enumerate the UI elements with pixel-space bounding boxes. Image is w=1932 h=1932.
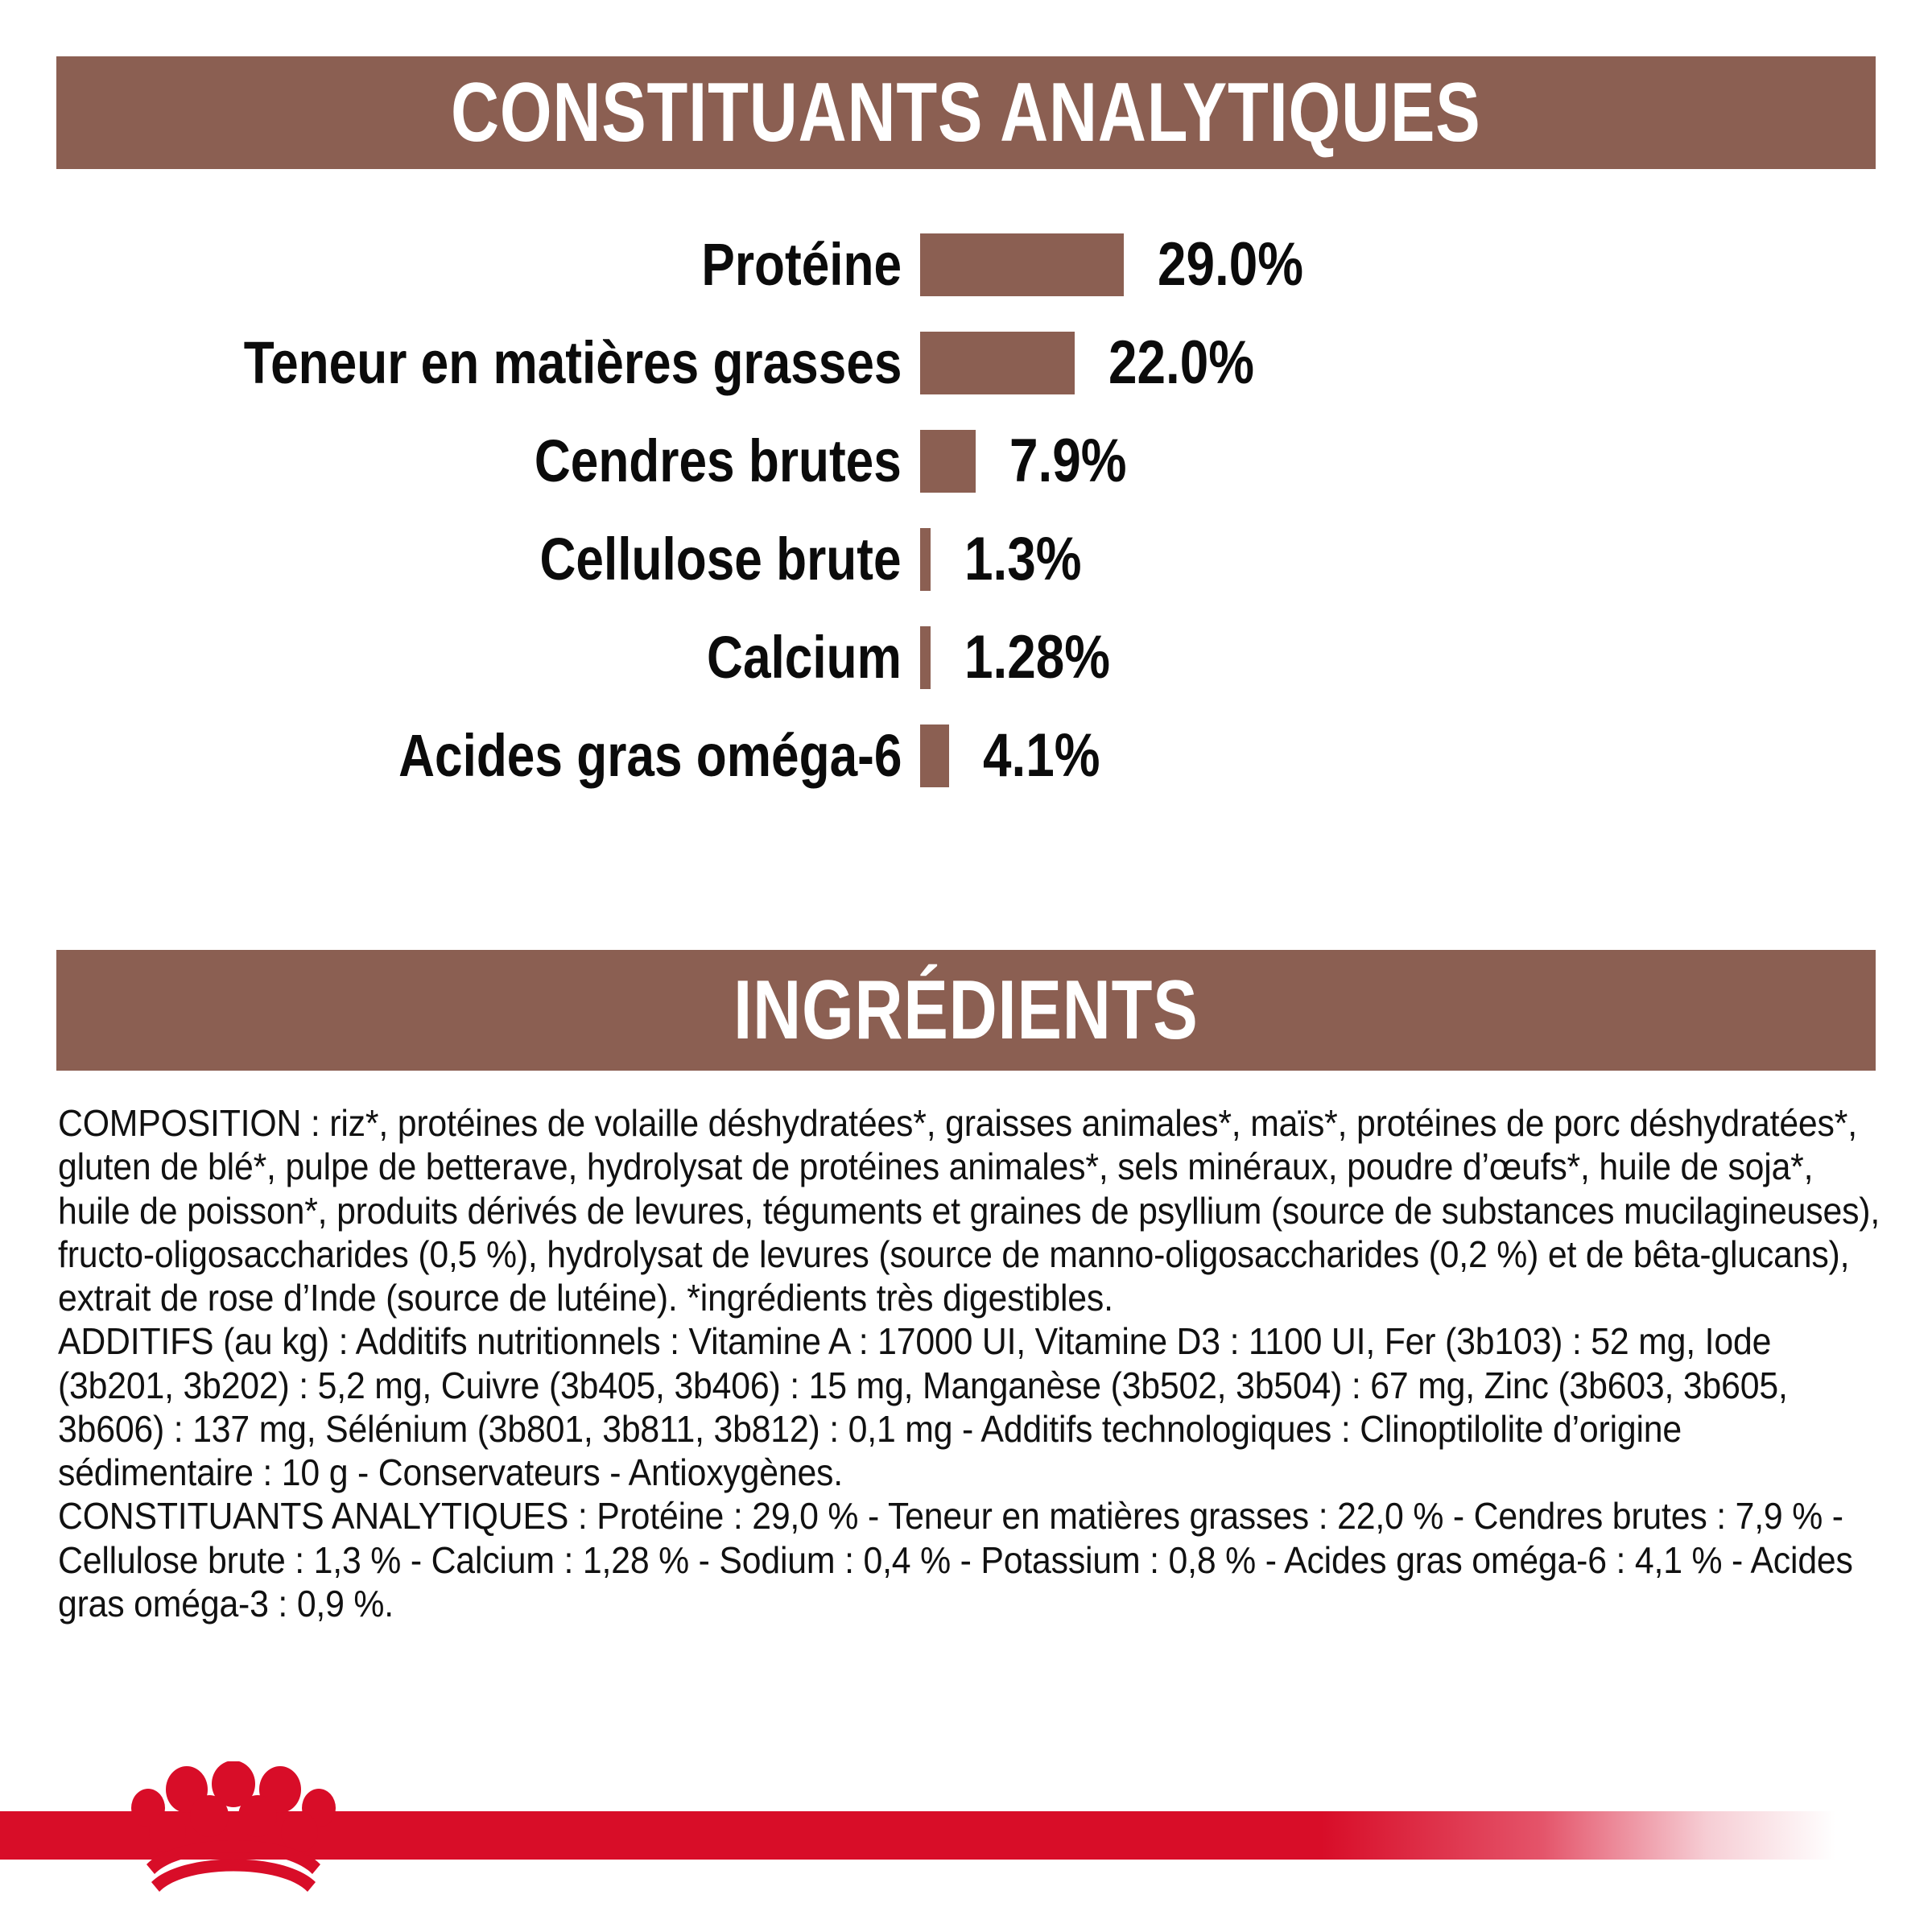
bar-track [920,724,949,787]
chart-row: Cellulose brute1.3% [0,512,1932,607]
bar-track [920,626,931,689]
bar-value-label: 1.28% [964,627,1110,688]
bar-label: Cendres brutes [535,431,902,491]
chart-row: Acides gras oméga-64.1% [0,708,1932,803]
bar-label: Teneur en matières grasses [243,333,902,393]
ingredients-body: COMPOSITION : riz*, protéines de volaill… [58,1101,1885,1625]
bar-fill [920,724,949,787]
bar-track [920,528,931,591]
bar-track [920,430,976,493]
chart-row: Protéine29.0% [0,217,1932,312]
ingredients-title: INGRÉDIENTS [733,968,1198,1052]
analytical-constituents-paragraph: CONSTITUANTS ANALYTIQUES : Protéine : 29… [58,1494,1885,1625]
analytical-constituents-chart: Protéine29.0%Teneur en matières grasses2… [0,217,1932,861]
bar-fill [920,430,976,493]
bar-fill [920,332,1075,394]
composition-paragraph: COMPOSITION : riz*, protéines de volaill… [58,1101,1885,1319]
bar-value-label: 7.9% [1009,431,1127,492]
bar-label: Calcium [707,628,902,687]
analytical-constituents-banner: CONSTITUANTS ANALYTIQUES [56,56,1876,169]
chart-row: Teneur en matières grasses22.0% [0,316,1932,411]
royal-canin-crown-icon [129,1761,338,1902]
analytical-constituents-title: CONSTITUANTS ANALYTIQUES [451,71,1481,155]
bar-value-label: 4.1% [983,725,1100,786]
bar-label: Cellulose brute [540,530,902,589]
bar-track [920,332,1075,394]
bar-label: Protéine [701,235,902,295]
additives-paragraph: ADDITIFS (au kg) : Additifs nutritionnel… [58,1319,1885,1494]
bar-label: Acides gras oméga-6 [398,726,902,786]
ingredients-banner: INGRÉDIENTS [56,950,1876,1071]
bar-value-label: 29.0% [1158,234,1303,295]
bar-track [920,233,1124,296]
bar-fill [920,233,1124,296]
chart-row: Calcium1.28% [0,610,1932,705]
bar-value-label: 1.3% [964,529,1082,590]
bar-fill [920,626,931,689]
bar-value-label: 22.0% [1108,332,1254,394]
bar-fill [920,528,931,591]
chart-row: Cendres brutes7.9% [0,414,1932,509]
